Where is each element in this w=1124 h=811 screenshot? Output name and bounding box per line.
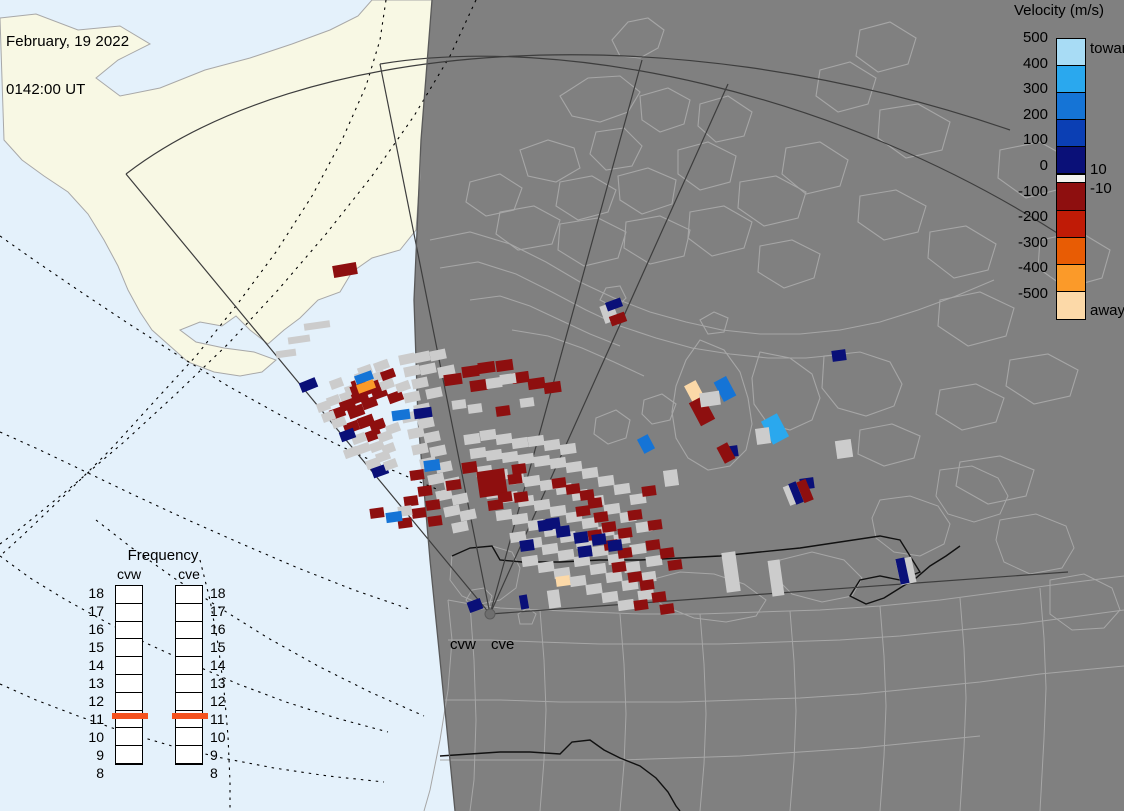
colorbar-tick-labels: 5004003002001000-100-200-300-400-500 bbox=[986, 28, 1052, 310]
frequency-legend: Frequency 18171615141312111098 cvw cve 1… bbox=[98, 547, 228, 779]
frequency-cell bbox=[176, 728, 202, 746]
frequency-scale-tick-9: 9 bbox=[210, 747, 232, 765]
frequency-column-cve: cve bbox=[166, 567, 212, 765]
frequency-scale-tick-4: 14 bbox=[210, 657, 232, 675]
colorbar-segment-positive-1 bbox=[1057, 66, 1085, 93]
frequency-scale-tick-2: 16 bbox=[210, 621, 232, 639]
frequency-scale-tick-4: 14 bbox=[82, 657, 104, 675]
frequency-scale-right: 18171615141312111098 bbox=[210, 585, 232, 783]
colorbar-segment-negative-2 bbox=[1057, 238, 1085, 265]
frequency-marker-cve bbox=[172, 713, 208, 719]
frequency-legend-title: Frequency bbox=[98, 547, 228, 564]
timestamp-time: 0142:00 UT bbox=[6, 82, 129, 98]
frequency-column-label-cve: cve bbox=[166, 567, 212, 583]
frequency-cell bbox=[176, 604, 202, 622]
colorbar-toward-label: toward bbox=[1090, 40, 1124, 57]
frequency-column-cvw: cvw bbox=[106, 567, 152, 765]
frequency-bar-cvw bbox=[115, 585, 143, 765]
radar-site-label-cve: cve bbox=[491, 636, 514, 653]
frequency-cell bbox=[116, 639, 142, 657]
frequency-cell bbox=[116, 728, 142, 746]
frequency-scale-tick-3: 15 bbox=[210, 639, 232, 657]
frequency-scale-tick-2: 16 bbox=[82, 621, 104, 639]
colorbar-tick-4: 100 bbox=[986, 130, 1052, 156]
colorbar-tick-10: -500 bbox=[986, 284, 1052, 310]
colorbar-title: Velocity (m/s) bbox=[994, 2, 1124, 19]
frequency-scale-left: 18171615141312111098 bbox=[82, 585, 104, 783]
frequency-bar-cve bbox=[175, 585, 203, 765]
frequency-scale-tick-7: 11 bbox=[82, 711, 104, 729]
frequency-cell bbox=[116, 586, 142, 604]
frequency-column-label-cvw: cvw bbox=[106, 567, 152, 583]
colorbar-tick-0: 500 bbox=[986, 28, 1052, 54]
colorbar-tick-2: 300 bbox=[986, 79, 1052, 105]
colorbar-segment-negative-3 bbox=[1057, 265, 1085, 292]
frequency-scale-tick-10: 8 bbox=[82, 765, 104, 783]
frequency-cell bbox=[116, 675, 142, 693]
frequency-scale-tick-6: 12 bbox=[82, 693, 104, 711]
frequency-scale-tick-3: 15 bbox=[82, 639, 104, 657]
frequency-cell bbox=[116, 604, 142, 622]
colorbar-negative-threshold-label: -10 bbox=[1090, 180, 1112, 197]
colorbar-gradient-bar bbox=[1056, 38, 1086, 320]
radar-map-view: February, 19 2022 0142:00 UT cvw cve Vel… bbox=[0, 0, 1124, 811]
frequency-scale-tick-0: 18 bbox=[210, 585, 232, 603]
frequency-scale-tick-8: 10 bbox=[210, 729, 232, 747]
colorbar-zero-band bbox=[1057, 174, 1085, 183]
colorbar-positive-threshold-label: 10 bbox=[1090, 161, 1107, 178]
timestamp-block: February, 19 2022 0142:00 UT bbox=[6, 2, 129, 130]
colorbar-tick-7: -200 bbox=[986, 207, 1052, 233]
timestamp-date: February, 19 2022 bbox=[6, 34, 129, 50]
colorbar-segment-negative-1 bbox=[1057, 211, 1085, 238]
frequency-marker-cvw bbox=[112, 713, 148, 719]
frequency-scale-tick-7: 11 bbox=[210, 711, 232, 729]
frequency-scale-tick-8: 10 bbox=[82, 729, 104, 747]
frequency-cell bbox=[176, 693, 202, 711]
frequency-scale-tick-9: 9 bbox=[82, 747, 104, 765]
frequency-scale-tick-1: 17 bbox=[210, 603, 232, 621]
frequency-cell bbox=[176, 657, 202, 675]
frequency-cell bbox=[176, 746, 202, 764]
frequency-scale-tick-1: 17 bbox=[82, 603, 104, 621]
colorbar-segment-positive-2 bbox=[1057, 93, 1085, 120]
frequency-cell bbox=[116, 622, 142, 640]
frequency-cell bbox=[176, 675, 202, 693]
colorbar-tick-3: 200 bbox=[986, 105, 1052, 131]
colorbar-tick-5: 0 bbox=[986, 156, 1052, 182]
colorbar-segment-negative-0 bbox=[1057, 183, 1085, 210]
frequency-cell bbox=[176, 639, 202, 657]
frequency-cell bbox=[116, 657, 142, 675]
frequency-scale-tick-0: 18 bbox=[82, 585, 104, 603]
frequency-scale-tick-5: 13 bbox=[210, 675, 232, 693]
frequency-cell bbox=[116, 746, 142, 764]
colorbar-segment-positive-3 bbox=[1057, 120, 1085, 147]
frequency-cell bbox=[176, 622, 202, 640]
radar-site-label-cvw: cvw bbox=[450, 636, 476, 653]
colorbar-segment-negative-4 bbox=[1057, 292, 1085, 319]
colorbar-tick-6: -100 bbox=[986, 182, 1052, 208]
velocity-colorbar: Velocity (m/s) 5004003002001000-100-200-… bbox=[986, 0, 1124, 340]
frequency-scale-tick-10: 8 bbox=[210, 765, 232, 783]
colorbar-segment-positive-0 bbox=[1057, 39, 1085, 66]
colorbar-away-label: away bbox=[1090, 302, 1124, 319]
frequency-cell bbox=[116, 693, 142, 711]
frequency-scale-tick-6: 12 bbox=[210, 693, 232, 711]
colorbar-tick-8: -300 bbox=[986, 233, 1052, 259]
colorbar-tick-1: 400 bbox=[986, 54, 1052, 80]
colorbar-segment-positive-4 bbox=[1057, 147, 1085, 174]
radar-origin-marker bbox=[485, 609, 495, 619]
frequency-scale-tick-5: 13 bbox=[82, 675, 104, 693]
colorbar-tick-9: -400 bbox=[986, 258, 1052, 284]
frequency-cell bbox=[176, 586, 202, 604]
